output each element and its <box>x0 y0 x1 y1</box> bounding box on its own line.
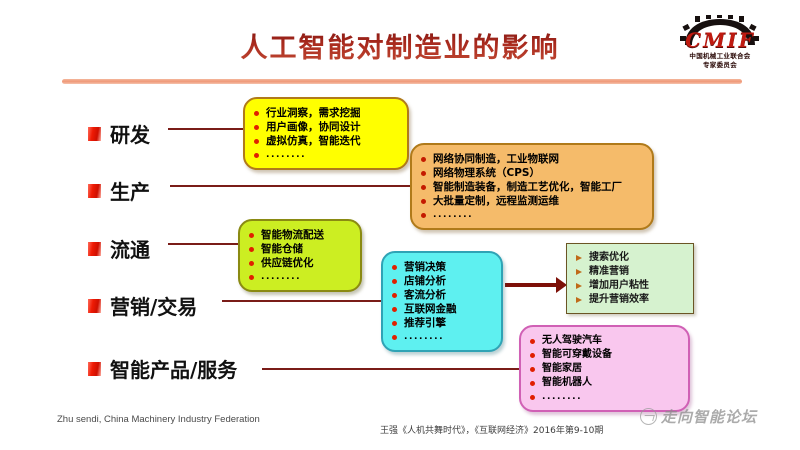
stage-label-text: 智能产品/服务 <box>110 354 237 383</box>
list-item: 搜索优化 <box>576 251 683 265</box>
list-item-text: ........ <box>266 148 306 162</box>
stage-label-marketing: 营销/交易 <box>88 291 197 320</box>
list-item-text: 智能制造装备，制造工艺优化，智能工厂 <box>433 180 622 194</box>
list-item-text: 虚拟仿真，智能迭代 <box>266 134 361 148</box>
list-item: 行业洞察，需求挖掘 <box>254 106 397 120</box>
list-item: 虚拟仿真，智能迭代 <box>254 134 397 148</box>
bullet-arrow-icon <box>576 269 582 275</box>
list-item-text: 增加用户粘性 <box>589 279 649 293</box>
list-item-text: 无人驾驶汽车 <box>542 334 602 348</box>
bullet-dot-icon <box>249 261 254 266</box>
stage-label-text: 流通 <box>110 234 150 263</box>
bullet-dot-icon <box>392 265 397 270</box>
list-item-text: 互联网金融 <box>404 302 457 316</box>
logo-line-2: 专家委员会 <box>664 62 776 69</box>
stage-label-text: 生产 <box>110 176 150 205</box>
list-item: 增加用户粘性 <box>576 279 683 293</box>
logo-acronym: CMIF <box>664 30 776 50</box>
connector-products <box>262 368 522 370</box>
list-item-text: 精准营销 <box>589 265 629 279</box>
list-item: 网络协同制造，工业物联网 <box>421 152 642 166</box>
bullet-dot-icon <box>530 395 535 400</box>
circulation-box: 智能物流配送 智能仓储 供应链优化 ........ <box>238 219 362 292</box>
list-item-text: 智能家居 <box>542 362 582 376</box>
bullet-dot-icon <box>421 171 426 176</box>
list-item: 智能仓储 <box>249 242 350 256</box>
bullet-dot-icon <box>254 125 259 130</box>
list-item-text: 大批量定制，远程监测运维 <box>433 194 559 208</box>
bullet-dot-icon <box>392 321 397 326</box>
stage-label-rd: 研发 <box>88 119 150 148</box>
cmif-logo: CMIF 中国机械工业联合会 专家委员会 <box>664 14 776 74</box>
list-item: 供应链优化 <box>249 256 350 270</box>
bullet-dot-icon <box>530 353 535 358</box>
production-box: 网络协同制造，工业物联网 网络物理系统（CPS） 智能制造装备，制造工艺优化，智… <box>410 143 654 230</box>
stage-label-production: 生产 <box>88 176 150 205</box>
bullet-dot-icon <box>421 213 426 218</box>
bullet-square-icon <box>88 184 101 198</box>
rd-box: 行业洞察，需求挖掘 用户画像，协同设计 虚拟仿真，智能迭代 ........ <box>243 97 409 170</box>
list-item: 网络物理系统（CPS） <box>421 166 642 180</box>
bullet-dot-icon <box>530 339 535 344</box>
bullet-square-icon <box>88 362 101 376</box>
list-item-text: 智能仓储 <box>261 242 303 256</box>
list-item-text: 智能物流配送 <box>261 228 324 242</box>
list-item: 营销决策 <box>392 260 491 274</box>
bullet-dot-icon <box>421 185 426 190</box>
stage-label-text: 营销/交易 <box>110 291 197 320</box>
watermark-logo-icon <box>640 408 657 425</box>
list-item-text: 搜索优化 <box>589 251 629 265</box>
list-item-text: 店铺分析 <box>404 274 446 288</box>
connector-marketing <box>222 300 384 302</box>
marketing-effects-box: 搜索优化 精准营销 增加用户粘性 提升营销效率 <box>566 243 694 314</box>
bullet-dot-icon <box>254 139 259 144</box>
bullet-dot-icon <box>392 279 397 284</box>
watermark-text: 走向智能论坛 <box>661 406 757 427</box>
list-item: ........ <box>254 148 397 162</box>
list-item-text: 网络物理系统（CPS） <box>433 166 540 180</box>
list-item-text: 用户画像，协同设计 <box>266 120 361 134</box>
bullet-arrow-icon <box>576 255 582 261</box>
list-item: 智能家居 <box>530 362 678 376</box>
bullet-square-icon <box>88 242 101 256</box>
list-item-text: 提升营销效率 <box>589 293 649 307</box>
connector-rd <box>168 128 246 130</box>
list-item: 无人驾驶汽车 <box>530 334 678 348</box>
bullet-dot-icon <box>392 335 397 340</box>
smart-products-box: 无人驾驶汽车 智能可穿戴设备 智能家居 智能机器人 ........ <box>519 325 690 412</box>
flow-arrow-shaft <box>505 283 559 287</box>
list-item-text: 供应链优化 <box>261 256 314 270</box>
list-item: 互联网金融 <box>392 302 491 316</box>
title-divider <box>62 79 742 84</box>
list-item: 精准营销 <box>576 265 683 279</box>
list-item-text: ........ <box>433 208 473 222</box>
list-item: 智能可穿戴设备 <box>530 348 678 362</box>
list-item: 智能物流配送 <box>249 228 350 242</box>
footer-source-citation: 王强《人机共舞时代》，《互联网经济》2016年第9-10期 <box>380 423 603 436</box>
bullet-dot-icon <box>249 233 254 238</box>
list-item-text: 推荐引擎 <box>404 316 446 330</box>
list-item: ........ <box>249 270 350 284</box>
slide-canvas: 人工智能对制造业的影响 CMIF 中国机械工业联合会 <box>0 0 800 450</box>
bullet-dot-icon <box>421 157 426 162</box>
list-item: 智能机器人 <box>530 376 678 390</box>
logo-line-1: 中国机械工业联合会 <box>664 53 776 60</box>
bullet-arrow-icon <box>576 283 582 289</box>
bullet-dot-icon <box>421 199 426 204</box>
connector-circulation <box>168 243 241 245</box>
list-item-text: ........ <box>261 270 301 284</box>
list-item-text: ........ <box>542 390 582 404</box>
list-item: 用户画像，协同设计 <box>254 120 397 134</box>
list-item-text: 行业洞察，需求挖掘 <box>266 106 361 120</box>
bullet-dot-icon <box>254 153 259 158</box>
watermark: 走向智能论坛 <box>640 406 757 427</box>
marketing-box: 营销决策 店铺分析 客流分析 互联网金融 推荐引擎 ........ <box>381 251 503 352</box>
bullet-square-icon <box>88 127 101 141</box>
bullet-square-icon <box>88 299 101 313</box>
list-item: 客流分析 <box>392 288 491 302</box>
list-item-text: 网络协同制造，工业物联网 <box>433 152 559 166</box>
stage-label-products: 智能产品/服务 <box>88 354 237 383</box>
list-item-text: 智能可穿戴设备 <box>542 348 612 362</box>
bullet-dot-icon <box>249 275 254 280</box>
list-item-text: 客流分析 <box>404 288 446 302</box>
stage-label-text: 研发 <box>110 119 150 148</box>
stage-label-circulation: 流通 <box>88 234 150 263</box>
bullet-dot-icon <box>392 307 397 312</box>
footer-attribution: Zhu sendi, China Machinery Industry Fede… <box>57 414 260 425</box>
list-item: 提升营销效率 <box>576 293 683 307</box>
list-item: ........ <box>530 390 678 404</box>
bullet-dot-icon <box>249 247 254 252</box>
list-item: 智能制造装备，制造工艺优化，智能工厂 <box>421 180 642 194</box>
list-item: ........ <box>392 330 491 344</box>
list-item-text: 智能机器人 <box>542 376 592 390</box>
list-item-text: ........ <box>404 330 444 344</box>
list-item: 推荐引擎 <box>392 316 491 330</box>
connector-production <box>170 185 412 187</box>
bullet-arrow-icon <box>576 297 582 303</box>
bullet-dot-icon <box>530 367 535 372</box>
bullet-dot-icon <box>530 381 535 386</box>
list-item: 店铺分析 <box>392 274 491 288</box>
list-item: ........ <box>421 208 642 222</box>
list-item: 大批量定制，远程监测运维 <box>421 194 642 208</box>
bullet-dot-icon <box>392 293 397 298</box>
bullet-dot-icon <box>254 111 259 116</box>
list-item-text: 营销决策 <box>404 260 446 274</box>
